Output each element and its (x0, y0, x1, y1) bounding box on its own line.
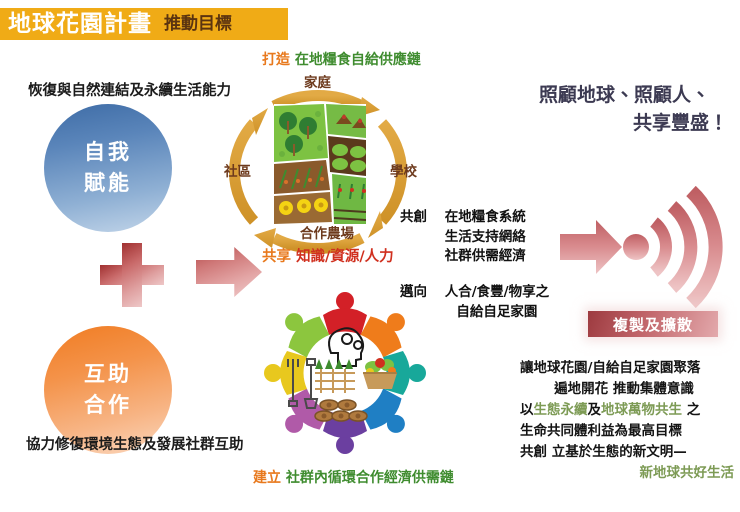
page-subtitle: 推動目標 (164, 16, 232, 33)
rp3-pre: 以 (520, 402, 534, 418)
left-top-caption: 恢復與自然連結及永續生活能力 (28, 82, 231, 101)
right-paragraph-line-5: 共創 立基於生態的新文明— (520, 442, 734, 463)
ring-label-community: 社區 (224, 164, 251, 181)
rp3-highlight-2: 地球萬物共生 (601, 402, 682, 418)
ring-label-school: 學校 (390, 164, 417, 181)
block-cocreate-line-1: 在地糧食系統 (445, 208, 526, 228)
ring-headline: 打造 在地糧食自給供應鏈 (262, 52, 421, 70)
right-slogan-line1: 照顧地球、照顧人、 (460, 82, 728, 110)
header-band: 地球花園計畫 推動目標 (0, 8, 288, 40)
block-toward-body: 人合/食豐/物享之 自給自足家園 (445, 283, 549, 322)
establish-prefix: 建立 (253, 470, 281, 486)
establish-headline: 建立 社群內循環合作經濟供需鏈 (253, 470, 454, 488)
right-paragraph-line-2: 遍地開花 推動集體意識 (520, 379, 734, 400)
left-bottom-caption: 協力修復環境生態及發展社群互助 (26, 436, 244, 455)
block-cocreate-line-2: 生活支持網絡 (445, 228, 526, 248)
right-paragraph-line-4: 生命共同體利益為最高目標 (520, 421, 734, 442)
circle-orange-line1: 互助 (84, 359, 132, 391)
circle-orange-line2: 合作 (84, 390, 132, 422)
right-paragraph-line-3: 以生態永續及地球萬物共生 之 (520, 400, 734, 421)
right-paragraph-line-6: 新地球共好生活 (520, 463, 734, 484)
plus-icon (100, 243, 164, 307)
ring-label-cooperative-farm: 合作農場 (300, 226, 354, 243)
block-toward-line-1: 人合/食豐/物享之 (445, 283, 549, 303)
circle-mutual-help: 互助 合作 (44, 326, 172, 454)
right-paragraph: 讓地球花園/自給自足家園聚落 遍地開花 推動集體意識 以生態永續及地球萬物共生 … (520, 358, 734, 484)
share-headline: 共享 知識/資源/人力 (262, 248, 394, 267)
block-cocreate: 共創 在地糧食系統 生活支持網絡 社群供需經濟 (400, 208, 526, 267)
status-badge-replicate: 複製及擴散 (588, 311, 718, 337)
right-slogan-line2: 共享豐盛！ (460, 110, 728, 138)
block-cocreate-body: 在地糧食系統 生活支持網絡 社群供需經濟 (445, 208, 526, 267)
ring-headline-prefix: 打造 (262, 52, 290, 68)
block-cocreate-tag: 共創 (400, 208, 440, 228)
circle-blue-line1: 自我 (84, 137, 132, 169)
circle-blue-line2: 賦能 (84, 168, 132, 200)
block-cocreate-line-3: 社群供需經濟 (445, 247, 526, 267)
circle-self-empowerment: 自我 賦能 (44, 104, 172, 232)
block-toward-tag: 邁向 (400, 283, 440, 303)
block-toward: 邁向 人合/食豐/物享之 自給自足家園 (400, 283, 549, 322)
infographic-canvas: 地球花園計畫 推動目標 恢復與自然連結及永續生活能力 自我 賦能 互助 合作 協… (0, 0, 740, 512)
establish-body: 社群內循環合作經濟供需鏈 (286, 470, 454, 486)
ring-headline-body: 在地糧食自給供應鏈 (295, 52, 421, 68)
farm-garden-illustration (274, 104, 366, 224)
ring-label-family: 家庭 (304, 75, 331, 92)
block-toward-line-2: 自給自足家園 (445, 303, 549, 323)
right-paragraph-line-1: 讓地球花園/自給自足家園聚落 (520, 358, 734, 379)
rp3-mid: 及 (588, 402, 602, 418)
share-headline-body: 知識/資源/人力 (296, 249, 394, 265)
right-slogan: 照顧地球、照顧人、 共享豐盛！ (460, 82, 728, 137)
share-headline-prefix: 共享 (262, 249, 291, 265)
rp3-post: 之 (682, 402, 700, 418)
broadcast-wifi-icon (560, 186, 732, 308)
rp3-highlight-1: 生態永續 (534, 402, 588, 418)
page-title: 地球花園計畫 (8, 13, 152, 36)
